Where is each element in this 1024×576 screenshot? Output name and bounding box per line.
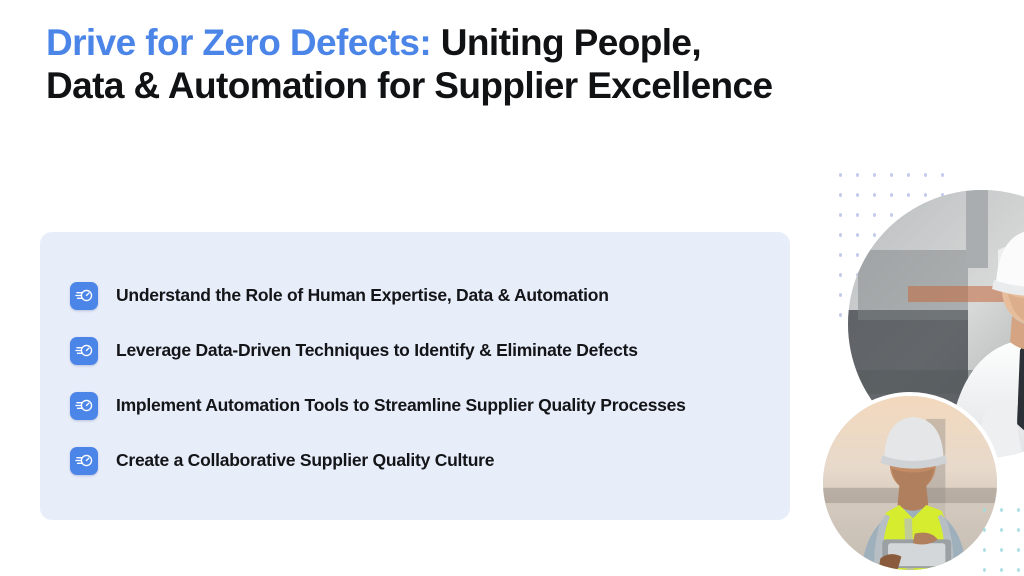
dot-grid-pattern-top <box>830 163 956 333</box>
title-line-1: Drive for Zero Defects: Uniting People, <box>46 22 846 65</box>
title-line-2: Data & Automation for Supplier Excellenc… <box>46 65 846 108</box>
dot-grid-pattern-bottom <box>976 500 1024 576</box>
title-line-1-rest: Uniting People, <box>431 22 701 63</box>
list-item-label: Create a Collaborative Supplier Quality … <box>116 450 494 471</box>
title-accent-text: Drive for Zero Defects: <box>46 22 431 63</box>
page-title: Drive for Zero Defects: Uniting People, … <box>46 22 846 108</box>
list-item-label: Implement Automation Tools to Streamline… <box>116 395 686 416</box>
photo-worker-in-hi-vis-vest-with-tablet <box>819 392 1001 574</box>
speed-check-icon <box>70 392 98 420</box>
slide-canvas: Drive for Zero Defects: Uniting People, … <box>0 0 1024 576</box>
bullet-panel: Understand the Role of Human Expertise, … <box>40 232 790 520</box>
list-item[interactable]: Leverage Data-Driven Techniques to Ident… <box>70 323 760 378</box>
speed-check-icon <box>70 447 98 475</box>
bullet-list: Understand the Role of Human Expertise, … <box>70 268 760 488</box>
list-item[interactable]: Implement Automation Tools to Streamline… <box>70 378 760 433</box>
list-item[interactable]: Understand the Role of Human Expertise, … <box>70 268 760 323</box>
speed-check-icon <box>70 337 98 365</box>
speed-check-icon <box>70 282 98 310</box>
list-item-label: Leverage Data-Driven Techniques to Ident… <box>116 340 638 361</box>
list-item[interactable]: Create a Collaborative Supplier Quality … <box>70 433 760 488</box>
list-item-label: Understand the Role of Human Expertise, … <box>116 285 609 306</box>
photo-engineer-with-hardhat-and-tablet <box>848 190 1024 458</box>
